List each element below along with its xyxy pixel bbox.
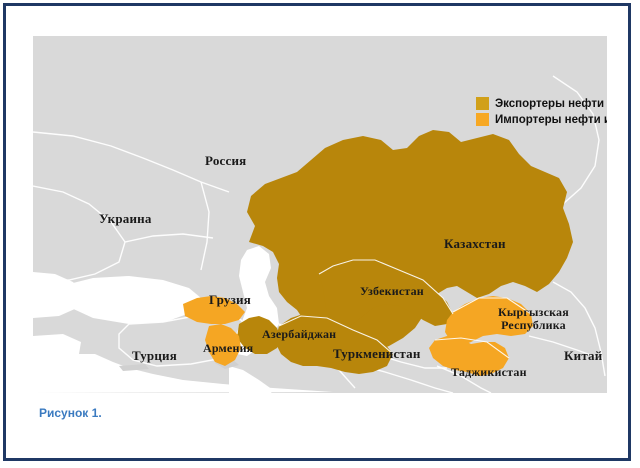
map-label-tajikistan: Таджикистан xyxy=(451,366,527,379)
figure-caption: Рисунок 1. xyxy=(39,406,102,420)
legend-swatch-importers xyxy=(476,113,489,126)
figure-frame: Россия Украина Турция Грузия Армения Азе… xyxy=(3,3,631,461)
map-label-ukraine: Украина xyxy=(99,212,152,227)
map-label-kazakhstan: Казахстан xyxy=(444,237,506,252)
map-legend: Экспортеры нефти и газа Импортеры нефти … xyxy=(476,97,607,126)
legend-swatch-exporters xyxy=(476,97,489,110)
legend-label-importers: Импортеры нефти и газа xyxy=(495,114,607,126)
map-label-china: Китай xyxy=(564,349,602,364)
map-label-kyrgyz-line1: Кыргызская xyxy=(498,305,569,319)
map-label-kyrgyz-republic: Кыргызская Республика xyxy=(498,306,569,333)
map-label-turkey: Турция xyxy=(132,349,177,364)
map-label-turkmenistan: Туркменистан xyxy=(333,347,421,362)
map-canvas: Россия Украина Турция Грузия Армения Азе… xyxy=(33,36,607,393)
map-label-armenia: Армения xyxy=(203,342,253,355)
legend-item-importers: Импортеры нефти и газа xyxy=(476,113,607,126)
map-label-georgia: Грузия xyxy=(209,293,251,308)
map-label-azerbaijan: Азербайджан xyxy=(262,328,336,341)
map-label-kyrgyz-line2: Республика xyxy=(501,318,566,332)
legend-label-exporters: Экспортеры нефти и газа xyxy=(495,98,607,110)
map-label-russia: Россия xyxy=(205,154,246,169)
legend-item-exporters: Экспортеры нефти и газа xyxy=(476,97,607,110)
map-label-uzbekistan: Узбекистан xyxy=(360,285,424,298)
